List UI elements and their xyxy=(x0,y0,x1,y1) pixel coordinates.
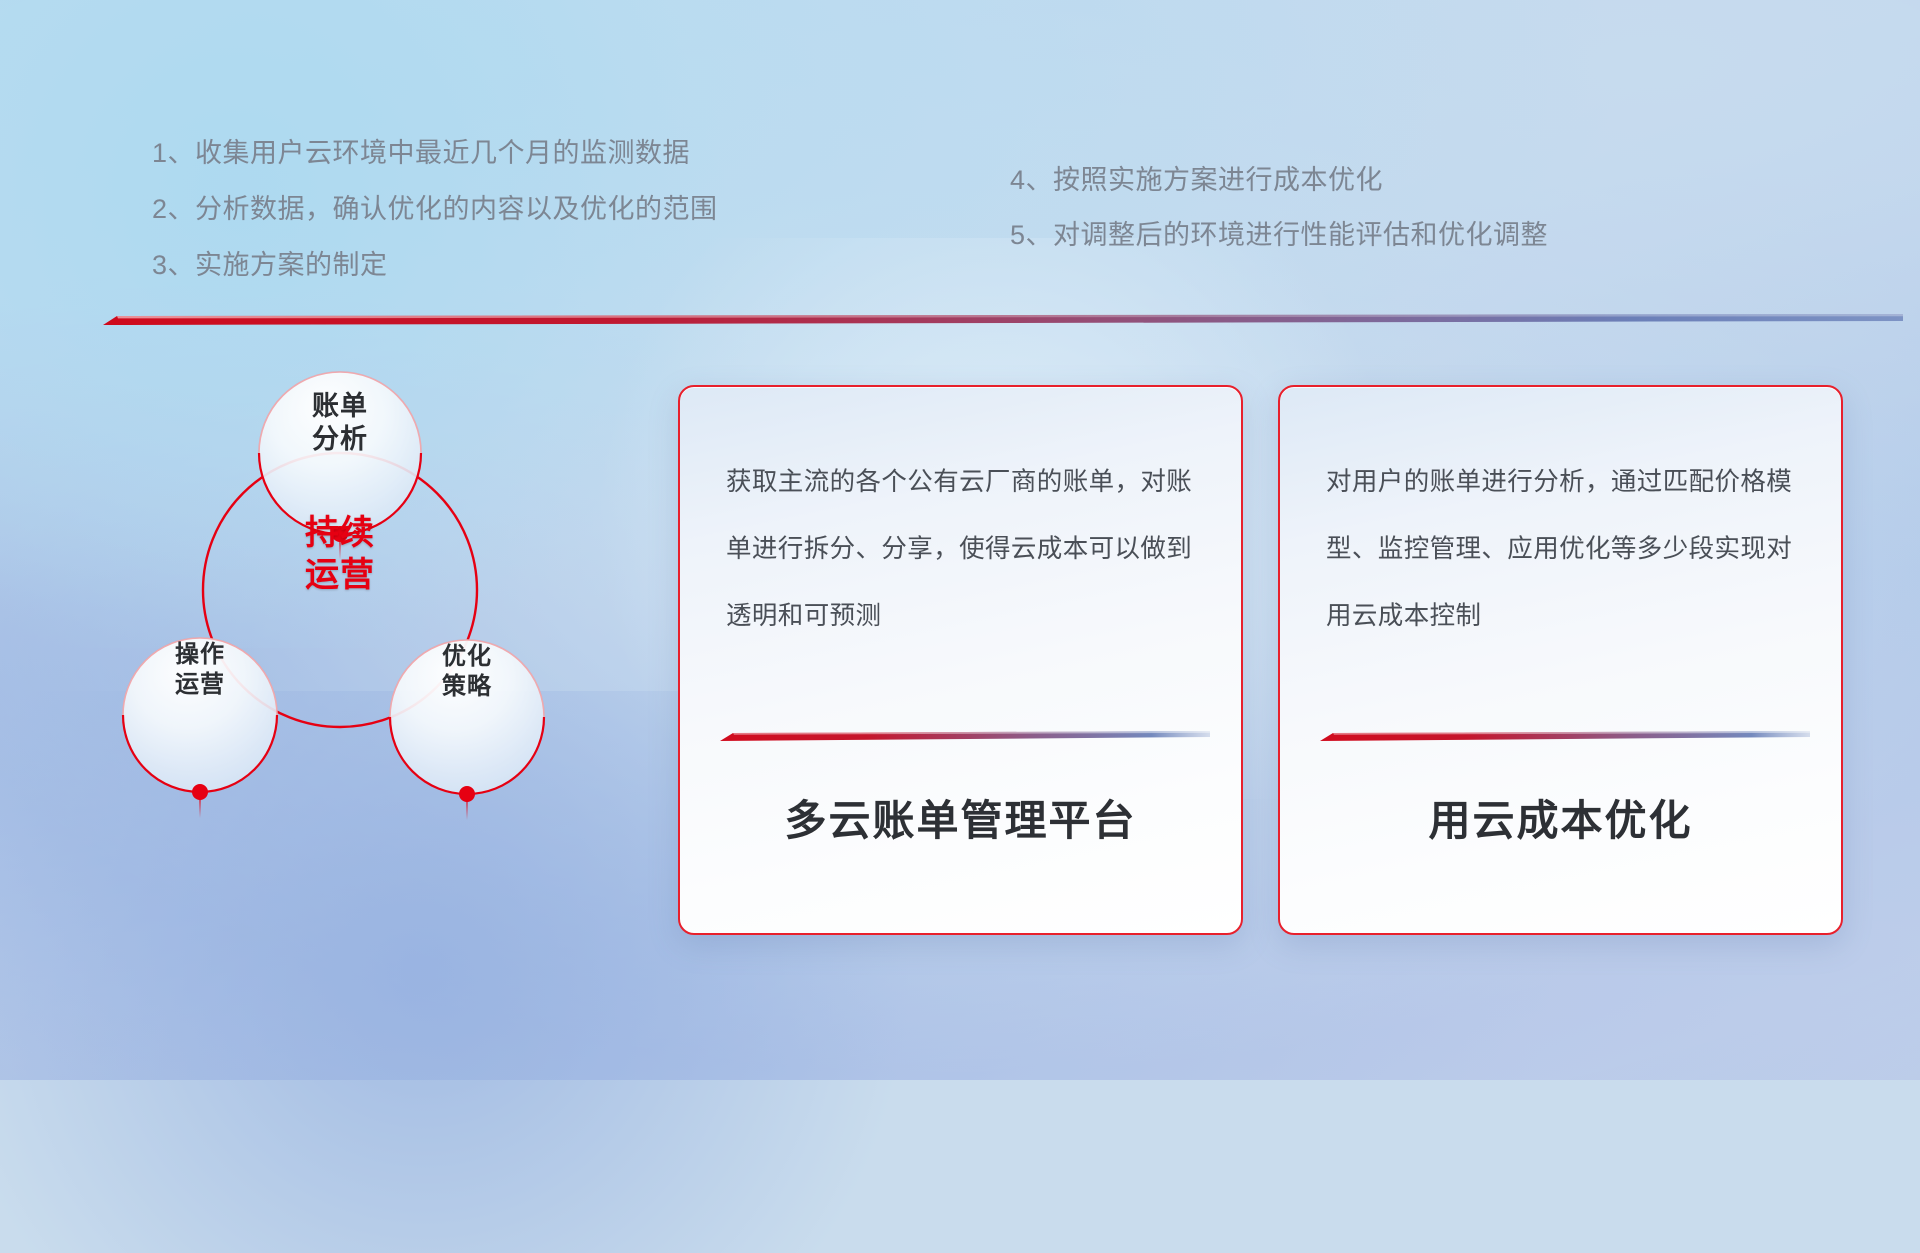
cards-container: 获取主流的各个公有云厂商的账单，对账单进行拆分、分享，使得云成本可以做到透明和可… xyxy=(0,0,1920,1080)
card-title: 多云账单管理平台 xyxy=(680,787,1241,848)
card-divider xyxy=(1320,731,1810,744)
card-body-text: 获取主流的各个公有云厂商的账单，对账单进行拆分、分享，使得云成本可以做到透明和可… xyxy=(726,449,1201,649)
card-cloud-cost-optimization[interactable]: 对用户的账单进行分析，通过匹配价格模型、监控管理、应用优化等多少段实现对用云成本… xyxy=(1278,385,1843,935)
card-title: 用云成本优化 xyxy=(1280,787,1841,848)
card-divider xyxy=(720,731,1210,744)
card-multicloud-billing[interactable]: 获取主流的各个公有云厂商的账单，对账单进行拆分、分享，使得云成本可以做到透明和可… xyxy=(678,385,1243,935)
card-body-text: 对用户的账单进行分析，通过匹配价格模型、监控管理、应用优化等多少段实现对用云成本… xyxy=(1326,449,1801,649)
